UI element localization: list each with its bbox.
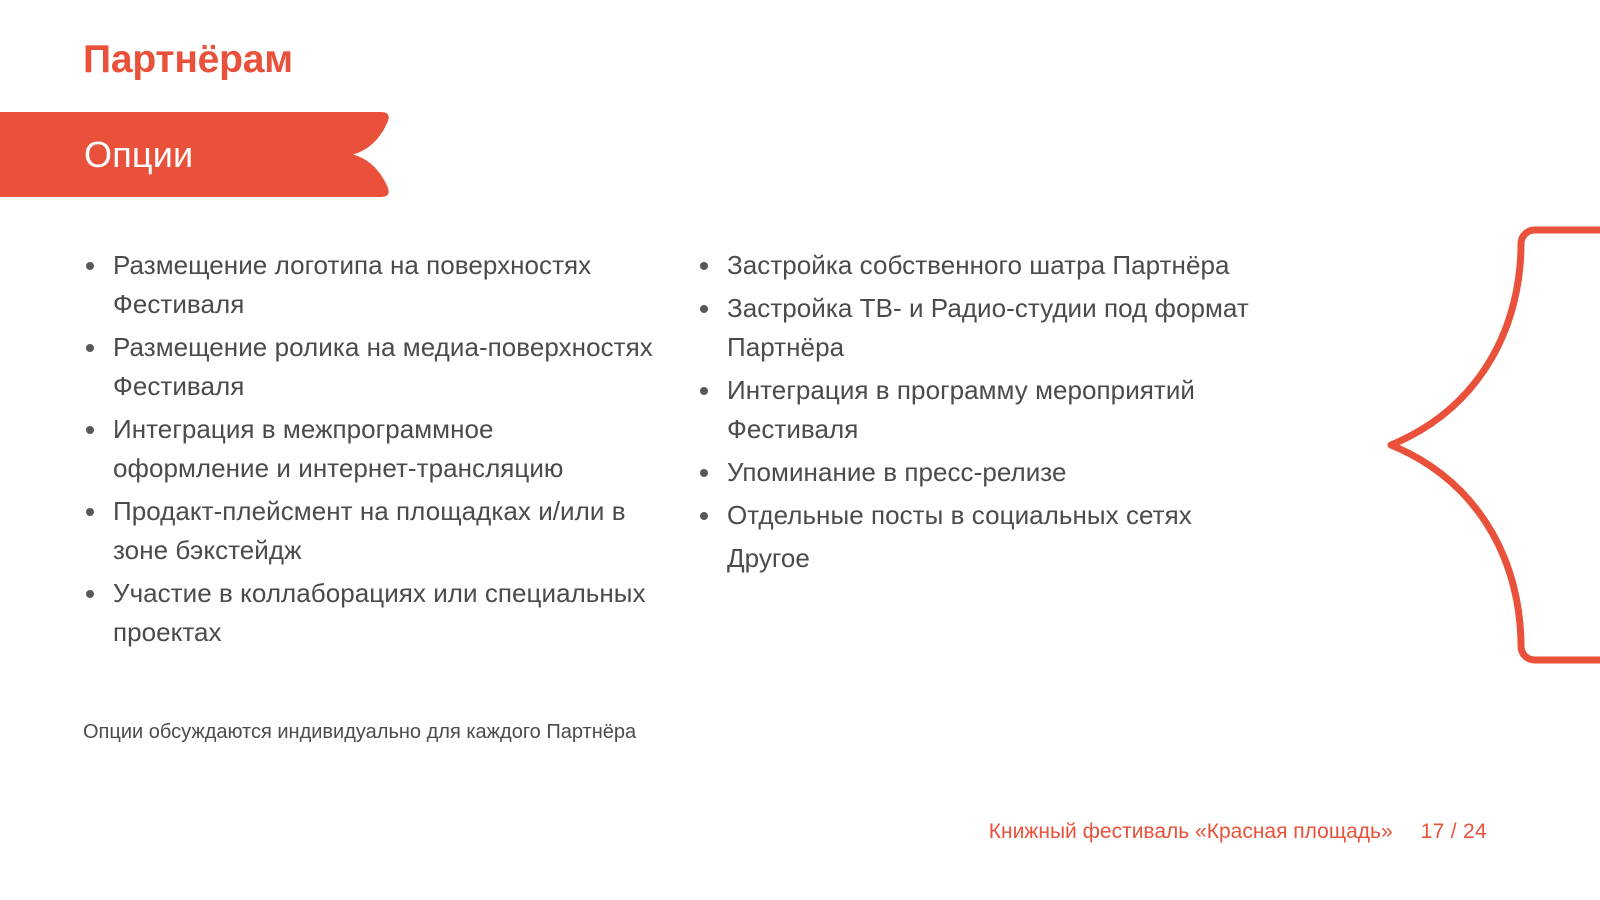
options-column-right: Застройка собственного шатра Партнёра За… xyxy=(697,246,1297,582)
list-item: Интеграция в межпрограммное оформление и… xyxy=(83,410,653,488)
ribbon-shape-icon xyxy=(0,112,391,197)
list-item: Застройка собственного шатра Партнёра xyxy=(697,246,1297,285)
list-item: Интеграция в программу мероприятий Фести… xyxy=(697,371,1297,449)
curly-brace-outline-icon xyxy=(1345,226,1600,672)
slide-canvas: Партнёрам Опции Размещение логотипа на п… xyxy=(0,0,1600,900)
options-list-right: Застройка собственного шатра Партнёра За… xyxy=(697,246,1297,578)
options-columns: Размещение логотипа на поверхностях Фест… xyxy=(0,246,1340,646)
list-item: Застройка ТВ- и Радио-студии под формат … xyxy=(697,289,1297,367)
list-item: Продакт-плейсмент на площадках и/или в з… xyxy=(83,492,653,570)
footer-page-number: 17 / 24 xyxy=(1421,820,1487,844)
section-ribbon: Опции xyxy=(0,112,391,197)
options-column-left: Размещение логотипа на поверхностях Фест… xyxy=(83,246,653,656)
list-item: Другое xyxy=(697,539,1297,578)
section-label: Опции xyxy=(84,112,193,197)
list-item: Упоминание в пресс-релизе xyxy=(697,453,1297,492)
page-title: Партнёрам xyxy=(83,40,293,81)
footer-festival-name: Книжный фестиваль «Красная площадь» xyxy=(989,820,1393,844)
list-item: Участие в коллаборациях или специальных … xyxy=(83,574,653,652)
options-list-left: Размещение логотипа на поверхностях Фест… xyxy=(83,246,653,652)
options-note: Опции обсуждаются индивидуально для кажд… xyxy=(83,718,636,746)
brace-decoration xyxy=(1345,226,1600,672)
slide-footer: Книжный фестиваль «Красная площадь» 17 /… xyxy=(989,820,1487,844)
list-item: Размещение логотипа на поверхностях Фест… xyxy=(83,246,653,324)
list-item: Размещение ролика на медиа-поверхностях … xyxy=(83,328,653,406)
list-item: Отдельные посты в социальных сетях xyxy=(697,496,1297,535)
